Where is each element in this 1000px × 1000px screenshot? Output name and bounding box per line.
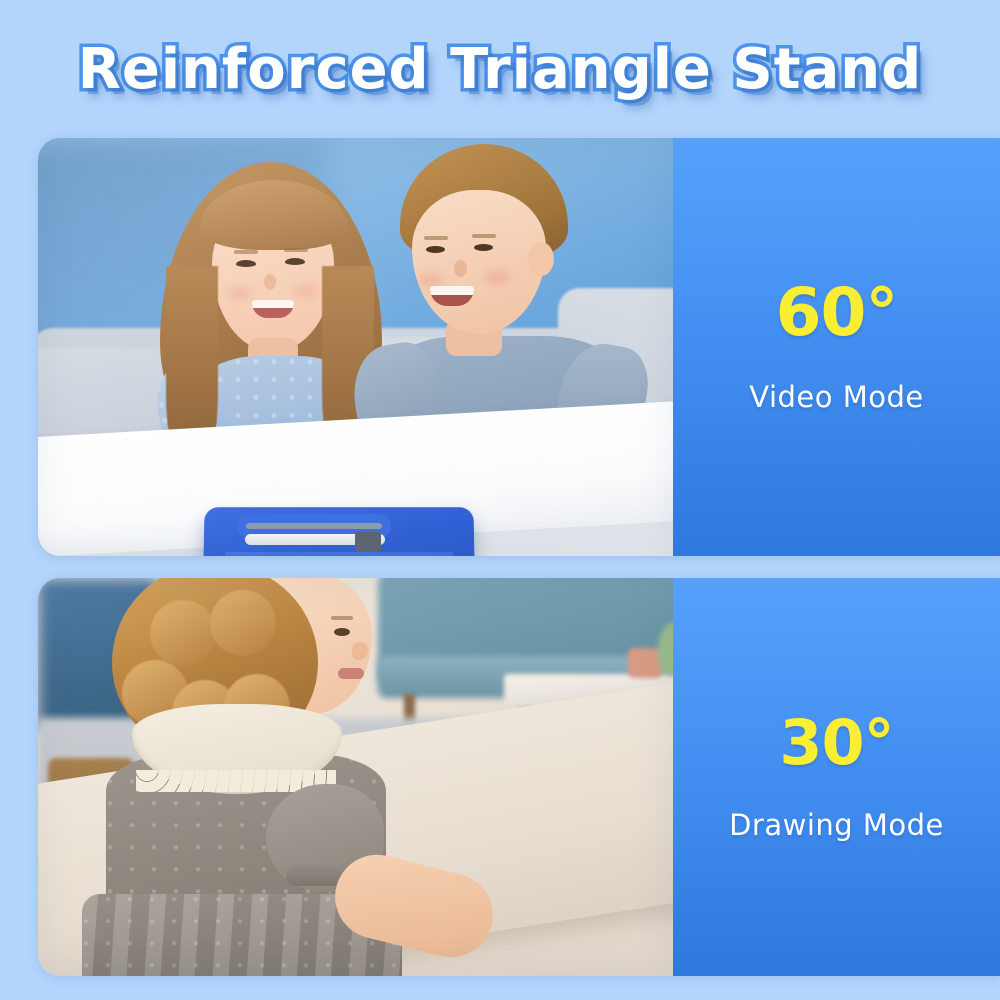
mode-label-video: Video Mode — [749, 380, 923, 414]
girl-nose — [264, 274, 276, 290]
tablet-case-back-view — [203, 506, 475, 556]
photo-video-mode — [38, 138, 673, 556]
girl-cheek-left — [228, 286, 252, 300]
angle-value-drawing: 30° — [779, 712, 893, 774]
girl-eye-left — [236, 260, 256, 267]
boy-nose — [454, 260, 467, 277]
boy-cheek-left — [418, 272, 444, 287]
boy-face — [412, 190, 546, 334]
girl-cheek-right — [294, 284, 318, 298]
case-clip — [355, 532, 381, 552]
info-panel-drawing-mode: 30° Drawing Mode — [673, 578, 1000, 976]
page-title: Reinforced Triangle Stand — [78, 37, 923, 102]
angle-value-video: 60° — [776, 280, 898, 346]
page-header: Reinforced Triangle Stand — [0, 26, 1000, 112]
boy-eyebrow-right — [472, 234, 496, 238]
plant-pot — [628, 648, 662, 678]
child-girl-drawing-figure — [98, 578, 398, 976]
boy-cheek-right — [484, 270, 510, 285]
feature-card-drawing-mode: 30° Drawing Mode — [38, 578, 1000, 976]
hair-curl — [150, 600, 216, 666]
girl2-eyebrow — [331, 616, 353, 620]
mode-label-drawing: Drawing Mode — [729, 808, 944, 842]
hair-curl — [210, 590, 276, 656]
girl-eye-right — [285, 258, 305, 265]
girl2-eye — [334, 628, 350, 636]
girl-eyebrow-left — [234, 250, 258, 254]
boy-eye-left — [426, 246, 445, 253]
girl-eyebrow-right — [284, 248, 308, 252]
boy-eye-right — [474, 244, 493, 251]
boy-eyebrow-left — [424, 236, 448, 240]
case-triangle-ribbing — [225, 552, 453, 556]
girl2-lips — [338, 668, 364, 679]
feature-card-video-mode: 60° Video Mode — [38, 138, 1000, 556]
photo-drawing-mode — [38, 578, 673, 976]
boy-ear — [528, 242, 554, 276]
info-panel-video-mode: 60° Video Mode — [673, 138, 1000, 556]
